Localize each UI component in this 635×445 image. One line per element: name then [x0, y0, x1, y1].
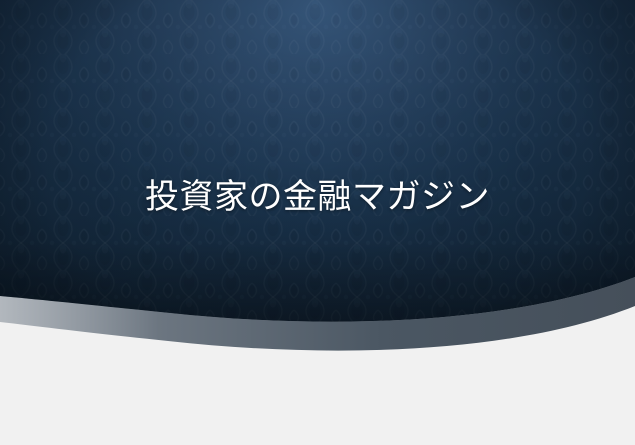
navy-banner-artwork [0, 0, 635, 445]
title-slide: 投資家の金融マガジン [0, 0, 635, 445]
slide-title-placeholder[interactable]: 投資家の金融マガジン [0, 176, 635, 219]
navy-banner-fill [0, 0, 635, 445]
page-title: 投資家の金融マガジン [145, 176, 490, 219]
